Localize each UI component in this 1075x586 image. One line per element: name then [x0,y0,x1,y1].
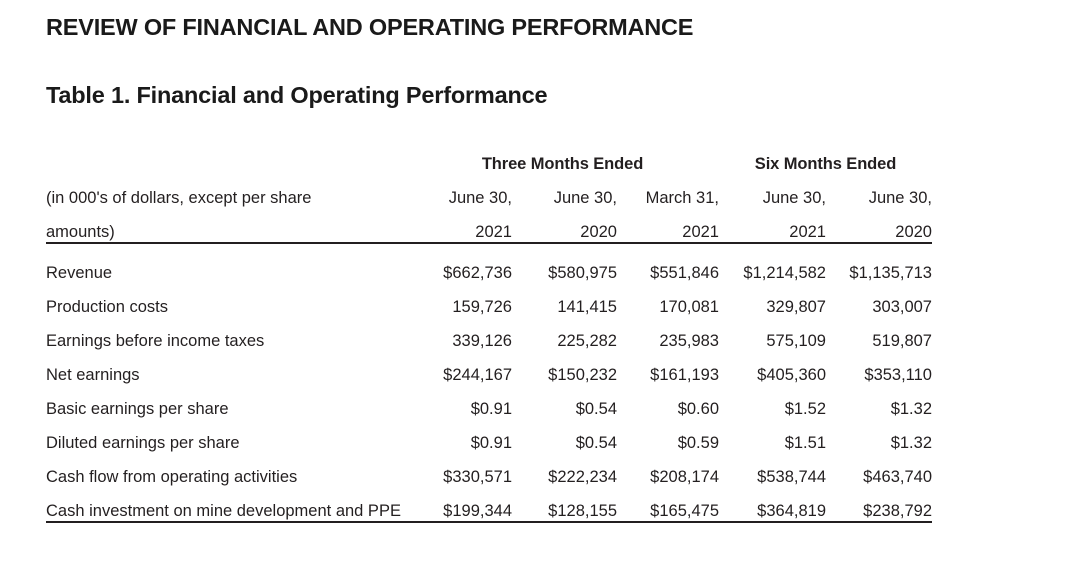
row-value: $1.32 [826,419,932,453]
row-value: 519,807 [826,317,932,351]
row-value: 329,807 [719,283,826,317]
row-value: 159,726 [406,283,512,317]
row-value: $463,740 [826,453,932,487]
row-value: $0.91 [406,385,512,419]
row-value: $150,232 [512,351,617,385]
column-header-5-line1: June 30, [826,174,932,208]
row-value: $1,214,582 [719,244,826,283]
row-value: $0.54 [512,419,617,453]
row-value: $199,344 [406,487,512,522]
row-value: 303,007 [826,283,932,317]
row-value: 339,126 [406,317,512,351]
table-row: Production costs159,726141,415170,081329… [46,283,932,317]
row-value: $330,571 [406,453,512,487]
row-value: 170,081 [617,283,719,317]
row-value: $244,167 [406,351,512,385]
rule-cell [46,522,932,523]
row-value: $208,174 [617,453,719,487]
row-label: Earnings before income taxes [46,317,406,351]
table-row: Earnings before income taxes339,126225,2… [46,317,932,351]
column-header-4-line1: June 30, [719,174,826,208]
column-header-2-line2: 2020 [512,208,617,243]
row-value: 235,983 [617,317,719,351]
row-label: Net earnings [46,351,406,385]
row-value: $128,155 [512,487,617,522]
table-date-header-row-2: amounts)20212020202120212020 [46,208,932,243]
row-value: $364,819 [719,487,826,522]
document-page: REVIEW OF FINANCIAL AND OPERATING PERFOR… [0,0,1075,586]
row-value: $1,135,713 [826,244,932,283]
row-value: 575,109 [719,317,826,351]
row-value: $165,475 [617,487,719,522]
column-header-1-line2: 2021 [406,208,512,243]
row-value: $405,360 [719,351,826,385]
row-value: $1.51 [719,419,826,453]
group-header-2: Six Months Ended [719,144,932,174]
row-label: Basic earnings per share [46,385,406,419]
row-value: $580,975 [512,244,617,283]
column-header-3-line2: 2021 [617,208,719,243]
row-value: $161,193 [617,351,719,385]
table-row: Cash investment on mine development and … [46,487,932,522]
column-header-2-line1: June 30, [512,174,617,208]
row-value: $0.60 [617,385,719,419]
table-caption: Table 1. Financial and Operating Perform… [46,82,547,109]
row-value: $222,234 [512,453,617,487]
table-bottom-rule [46,522,932,523]
column-header-3-line1: March 31, [617,174,719,208]
column-header-4-line2: 2021 [719,208,826,243]
row-label: Revenue [46,244,406,283]
row-value: $238,792 [826,487,932,522]
row-value: $0.91 [406,419,512,453]
table-row: Diluted earnings per share$0.91$0.54$0.5… [46,419,932,453]
row-label: Cash investment on mine development and … [46,487,406,522]
column-header-5-line2: 2020 [826,208,932,243]
table-row: Net earnings$244,167$150,232$161,193$405… [46,351,932,385]
table-stub-header-line-2: amounts) [46,208,406,243]
row-value: $538,744 [719,453,826,487]
table-row: Cash flow from operating activities$330,… [46,453,932,487]
table-stub-header-line-1: (in 000's of dollars, except per share [46,174,406,208]
row-value: $551,846 [617,244,719,283]
row-value: $0.54 [512,385,617,419]
row-value: $662,736 [406,244,512,283]
row-value: $1.32 [826,385,932,419]
row-label: Cash flow from operating activities [46,453,406,487]
row-value: 225,282 [512,317,617,351]
table-group-header-row: Three Months EndedSix Months Ended [46,144,932,174]
group-header-spacer [46,144,406,174]
row-value: $353,110 [826,351,932,385]
table-row: Revenue$662,736$580,975$551,846$1,214,58… [46,244,932,283]
row-value: 141,415 [512,283,617,317]
row-value: $1.52 [719,385,826,419]
row-label: Diluted earnings per share [46,419,406,453]
row-value: $0.59 [617,419,719,453]
financial-performance-table: Three Months EndedSix Months Ended(in 00… [46,144,932,523]
column-header-1-line1: June 30, [406,174,512,208]
row-label: Production costs [46,283,406,317]
section-heading: REVIEW OF FINANCIAL AND OPERATING PERFOR… [46,14,693,41]
table-date-header-row-1: (in 000's of dollars, except per shareJu… [46,174,932,208]
table-row: Basic earnings per share$0.91$0.54$0.60$… [46,385,932,419]
group-header-1: Three Months Ended [406,144,719,174]
